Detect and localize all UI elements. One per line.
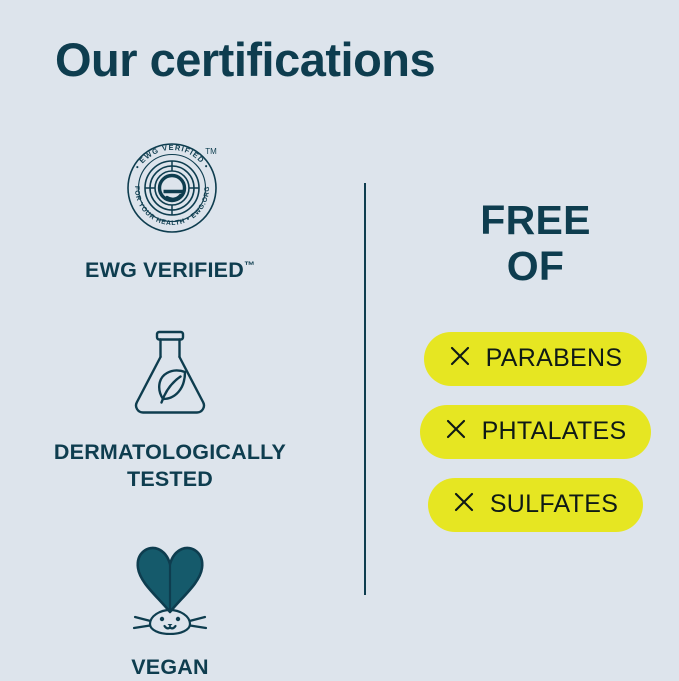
certification-label: DERMATOLOGICALLY TESTED <box>54 439 286 493</box>
svg-text:TM: TM <box>205 147 217 156</box>
certification-label-text: EWG VERIFIED <box>85 258 244 282</box>
free-of-pill-phtalates[interactable]: PHTALATES <box>420 405 652 459</box>
vertical-divider <box>364 183 366 595</box>
flask-with-leaf-icon <box>127 328 213 425</box>
free-of-title: FREE OF <box>480 198 591 290</box>
free-of-pill-label: PHTALATES <box>482 417 627 446</box>
free-of-pill-label: SULFATES <box>490 490 618 519</box>
free-of-column: FREE OF PARABENS <box>392 120 679 532</box>
cross-x-icon <box>445 418 467 445</box>
free-of-pill-label: PARABENS <box>486 344 623 373</box>
certifications-column: • EWG VERIFIED • FOR YOUR HEALTH • EWG.O… <box>0 120 340 660</box>
bunny-heart-ears-icon <box>114 537 226 640</box>
cross-x-icon <box>453 491 475 518</box>
certification-item-ewg-verified: • EWG VERIFIED • FOR YOUR HEALTH • EWG.O… <box>85 134 255 284</box>
ewg-verified-seal-icon: • EWG VERIFIED • FOR YOUR HEALTH • EWG.O… <box>118 134 222 243</box>
free-of-pill-parabens[interactable]: PARABENS <box>424 332 648 386</box>
cross-x-icon <box>449 345 471 372</box>
certification-label: EWG VERIFIED™ <box>85 257 255 284</box>
certification-label-text: VEGAN <box>131 655 208 679</box>
certification-item-vegan: VEGAN <box>114 537 226 681</box>
certification-label-text: DERMATOLOGICALLY TESTED <box>54 440 286 491</box>
free-of-pill-list: PARABENS PHTALATES <box>420 332 652 532</box>
certifications-panel: Our certifications <box>0 0 679 679</box>
certification-label: VEGAN <box>131 654 208 681</box>
free-of-pill-sulfates[interactable]: SULFATES <box>428 478 643 532</box>
certification-item-dermatologically-tested: DERMATOLOGICALLY TESTED <box>54 328 286 493</box>
page-title: Our certifications <box>55 33 435 87</box>
trademark-symbol: ™ <box>244 260 255 272</box>
content-columns: • EWG VERIFIED • FOR YOUR HEALTH • EWG.O… <box>0 120 679 660</box>
